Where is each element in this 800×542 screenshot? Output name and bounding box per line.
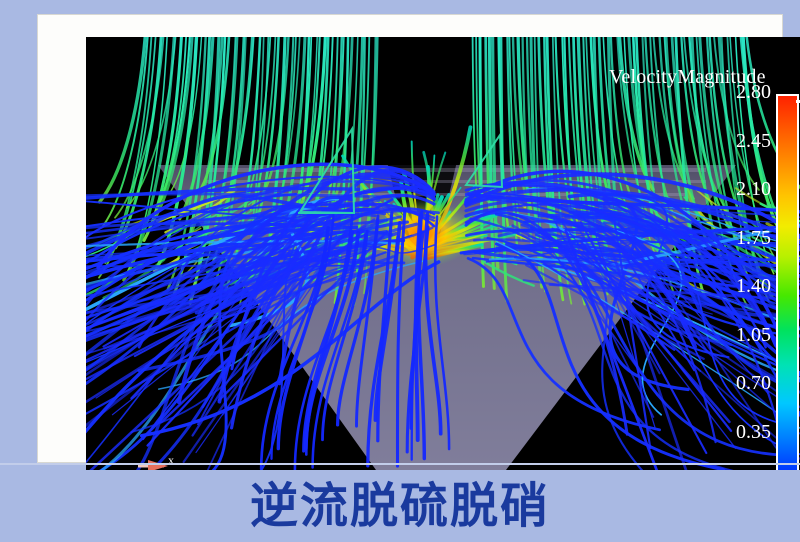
colorbar-tick-label: 1.75 — [691, 227, 771, 250]
figure-caption: 逆流脱硫脱硝 — [0, 466, 800, 536]
screenshot-root: VelocityMagnitude 2.74 0.00 2.802.452.10… — [0, 0, 800, 542]
colorbar-max-tickmark — [796, 100, 800, 103]
image-frame: VelocityMagnitude 2.74 0.00 2.802.452.10… — [38, 15, 782, 462]
colorbar-tick-label: 2.80 — [691, 81, 771, 104]
colorbar-gradient — [776, 94, 799, 470]
colorbar — [776, 94, 799, 470]
cfd-viewport: VelocityMagnitude 2.74 0.00 2.802.452.10… — [86, 37, 800, 470]
colorbar-tick-label: 0.70 — [691, 372, 771, 395]
colorbar-tick-label: 1.05 — [691, 324, 771, 347]
caption-divider — [0, 463, 800, 465]
colorbar-tick-label: 1.40 — [691, 275, 771, 298]
colorbar-tick-label: 2.45 — [691, 130, 771, 153]
colorbar-tick-label: 2.10 — [691, 178, 771, 201]
colorbar-tick-label: 0.35 — [691, 421, 771, 444]
